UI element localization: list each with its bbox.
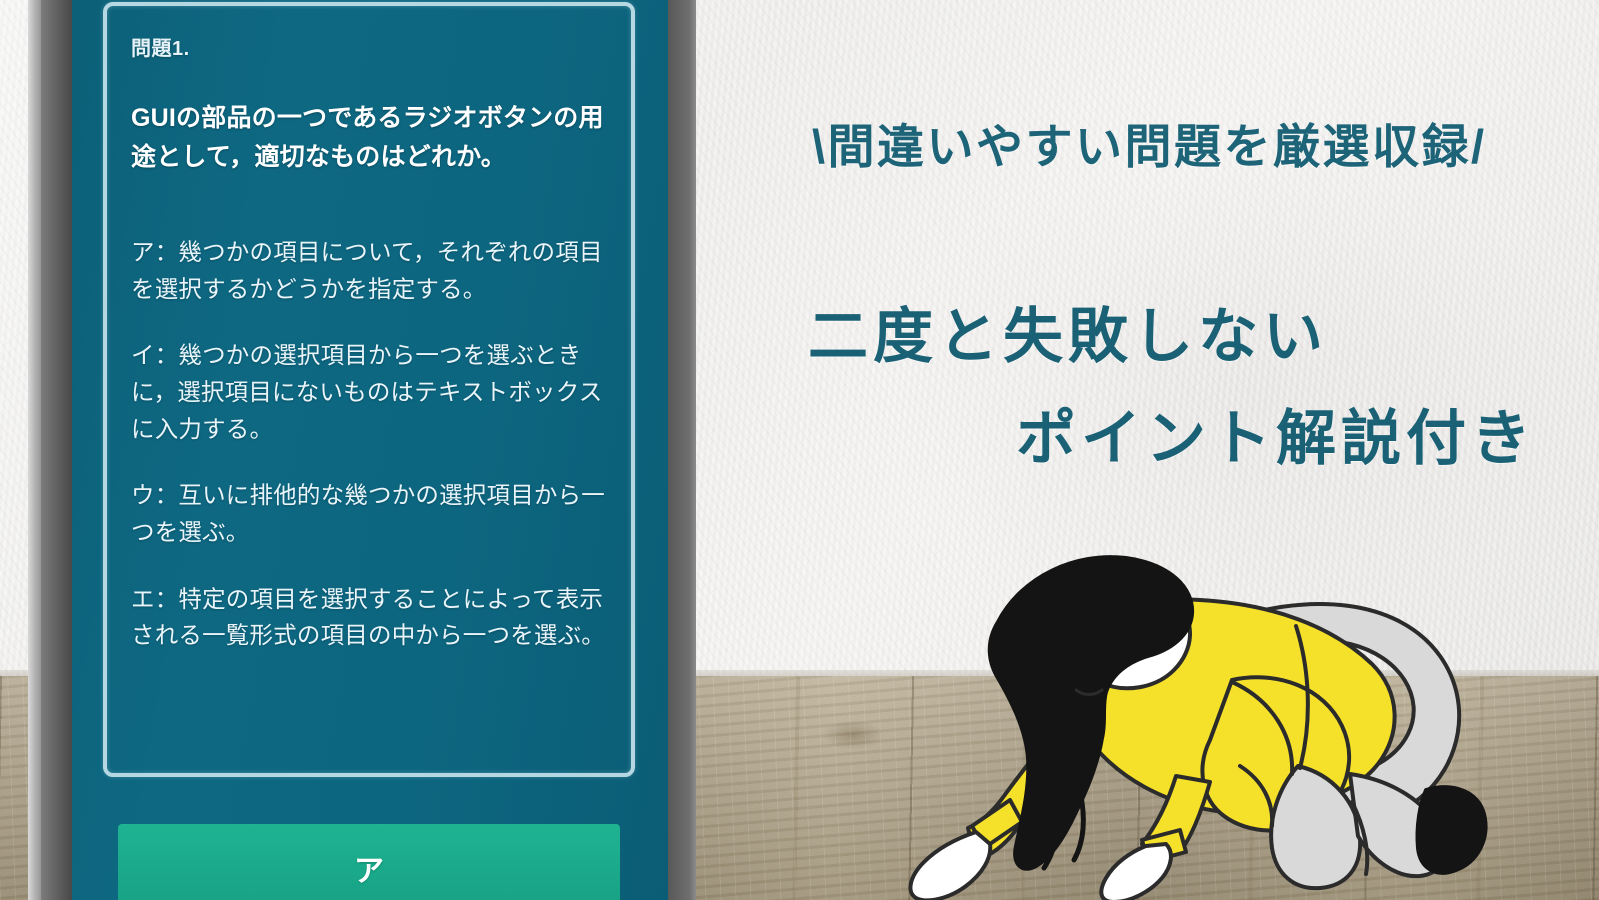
question-card: 問題1. GUIの部品の一つであるラジオボタンの用途として，適切なものはどれか。… (103, 2, 635, 777)
answer-option-button-a[interactable]: ア (118, 824, 620, 900)
crawling-woman-illustration (880, 530, 1500, 900)
answer-option-button-a-label: ア (354, 846, 384, 890)
promo-kicker: \間違いやすい問題を厳選収録/ (812, 108, 1512, 177)
promo-headline-line1: 二度と失敗しない (808, 288, 1328, 375)
question-number: 問題1. (131, 32, 609, 61)
choice-e: エ：特定の項目を選択することによって表示される一覧形式の項目の中から一つを選ぶ。 (131, 581, 609, 654)
question-text: GUIの部品の一つであるラジオボタンの用途として，適切なものはどれか。 (131, 99, 609, 176)
promo-headline-line2: ポイント解説付き (1016, 390, 1536, 477)
phone-screen: 問題1. GUIの部品の一つであるラジオボタンの用途として，適切なものはどれか。… (72, 0, 668, 900)
choice-i: イ：幾つかの選択項目から一つを選ぶときに，選択項目にないものはテキストボックスに… (131, 337, 609, 447)
choice-a: ア：幾つかの項目について，それぞれの項目を選択するかどうかを指定する。 (131, 234, 609, 307)
choice-u: ウ：互いに排他的な幾つかの選択項目から一つを選ぶ。 (131, 477, 609, 550)
promo-screenshot: \間違いやすい問題を厳選収録/ 二度と失敗しない ポイント解説付き 問題1. G… (0, 0, 1599, 900)
phone-mockup: 問題1. GUIの部品の一つであるラジオボタンの用途として，適切なものはどれか。… (28, 0, 696, 900)
